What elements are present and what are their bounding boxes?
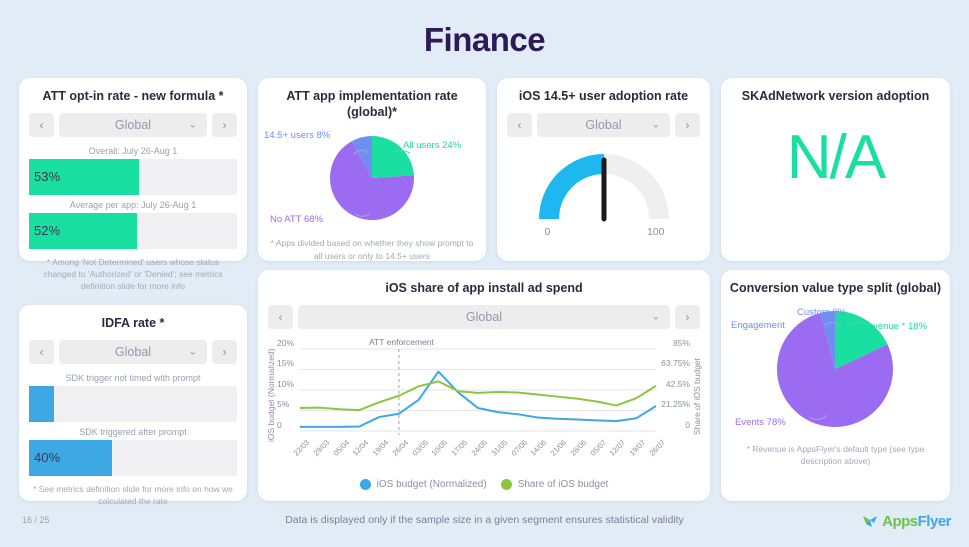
pie-label-no-att: No ATT 68% xyxy=(270,214,323,225)
bar-track-sdk-not-timed xyxy=(29,386,237,422)
prev-segment-button[interactable]: ‹ xyxy=(29,340,54,364)
pie-label-custom: Custom 0% xyxy=(797,307,846,318)
legend-label: Share of iOS budget xyxy=(518,479,609,490)
logo-text-apps: Apps xyxy=(882,513,918,530)
legend-dot-icon xyxy=(501,479,512,490)
segment-selector-idfa[interactable]: ‹ Global ⌄ › xyxy=(19,334,247,368)
gauge-axis-labels: 0 100 xyxy=(539,226,669,238)
legend-item-share-ios: Share of iOS budget xyxy=(501,479,609,490)
footer-note: Data is displayed only if the sample siz… xyxy=(0,514,969,526)
bar-label-overall: Overall: July 26-Aug 1 xyxy=(19,146,247,156)
card-conversion-value: Conversion value type split (global) Cus… xyxy=(721,270,950,501)
gauge-svg xyxy=(539,151,669,223)
pie-label-revenue: Revenue * 18% xyxy=(861,321,927,332)
bar-label-sdk-after: SDK triggered after prompt xyxy=(19,427,247,437)
chevron-down-icon: ⌄ xyxy=(652,119,660,130)
segment-selector-ios-share[interactable]: ‹ Global ⌄ › xyxy=(258,299,710,333)
skadnetwork-value: N/A xyxy=(721,107,950,189)
bar-fill-sdk-after: 40% xyxy=(29,440,112,476)
prev-segment-button[interactable]: ‹ xyxy=(29,113,54,137)
segment-value: Global xyxy=(115,118,151,132)
chart-gridlines xyxy=(300,349,656,431)
slide-root: Finance ATT opt-in rate - new formula * … xyxy=(0,0,969,547)
card-idfa-rate: IDFA rate * ‹ Global ⌄ › SDK trigger not… xyxy=(19,305,247,501)
appsflyer-logo: Apps Flyer xyxy=(860,511,951,531)
segment-selector-ios-adoption[interactable]: ‹ Global ⌄ › xyxy=(497,107,710,141)
bar-label-avg: Average per app: July 26-Aug 1 xyxy=(19,200,247,210)
bar-track-avg: 52% xyxy=(29,213,237,249)
pie-label-engagement: Engagement xyxy=(731,320,785,331)
segment-value: Global xyxy=(585,118,621,132)
next-segment-button[interactable]: › xyxy=(212,340,237,364)
bar-label-sdk-not-timed: SDK trigger not timed with prompt xyxy=(19,373,247,383)
pie-chart-att-implementation: 14.5+ users 8% All users 24% No ATT 68% xyxy=(258,122,486,230)
legend-label: iOS budget (Normalized) xyxy=(377,479,487,490)
appsflyer-mark-icon xyxy=(860,511,880,531)
chevron-down-icon: ⌄ xyxy=(652,311,660,322)
card-att-optin-rate: ATT opt-in rate - new formula * ‹ Global… xyxy=(19,78,247,261)
logo-text-flyer: Flyer xyxy=(918,513,951,530)
segment-dropdown[interactable]: Global ⌄ xyxy=(59,340,207,364)
card-title-att-optin: ATT opt-in rate - new formula * xyxy=(19,78,247,107)
legend-dot-icon xyxy=(360,479,371,490)
chevron-down-icon: ⌄ xyxy=(189,119,197,130)
gauge-min-label: 0 xyxy=(539,226,551,238)
segment-value: Global xyxy=(115,345,151,359)
bar-track-overall: 53% xyxy=(29,159,237,195)
segment-value: Global xyxy=(466,310,502,324)
segment-dropdown[interactable]: Global ⌄ xyxy=(59,113,207,137)
bar-fill-sdk-not-timed xyxy=(29,386,54,422)
card-att-implementation: ATT app implementation rate (global)* 14… xyxy=(258,78,486,261)
pie-label-all-users: All users 24% xyxy=(403,140,461,151)
next-segment-button[interactable]: › xyxy=(675,305,700,329)
card-ios-share: iOS share of app install ad spend ‹ Glob… xyxy=(258,270,710,501)
slide-footer: 16 / 25 Data is displayed only if the sa… xyxy=(0,503,969,547)
footnote-att-implementation: * Apps divided based on whether they sho… xyxy=(258,230,486,271)
card-title-idfa: IDFA rate * xyxy=(19,305,247,334)
segment-selector-att-optin[interactable]: ‹ Global ⌄ › xyxy=(19,107,247,141)
series-line-ios-budget xyxy=(300,371,656,426)
pie-chart-conversion-value: Custom 0% Engagement Revenue * 18% Event… xyxy=(721,299,950,436)
chevron-down-icon: ⌄ xyxy=(189,346,197,357)
next-segment-button[interactable]: › xyxy=(212,113,237,137)
bar-value-avg: 52% xyxy=(29,223,60,238)
chart-legend: iOS budget (Normalized) Share of iOS bud… xyxy=(258,479,710,490)
prev-segment-button[interactable]: ‹ xyxy=(268,305,293,329)
bar-value-overall: 53% xyxy=(29,169,60,184)
legend-item-ios-budget: iOS budget (Normalized) xyxy=(360,479,487,490)
line-chart-ios-share: iOS budget (Normalized) Share of iOS bud… xyxy=(266,337,702,477)
gauge-max-label: 100 xyxy=(647,226,669,238)
card-title-ios-share: iOS share of app install ad spend xyxy=(258,270,710,299)
footnote-att-optin: * Among 'Not Determined' users whose sta… xyxy=(19,249,247,302)
segment-dropdown[interactable]: Global ⌄ xyxy=(537,113,670,137)
bar-fill-overall: 53% xyxy=(29,159,139,195)
card-title-ios-adoption: iOS 14.5+ user adoption rate xyxy=(497,78,710,107)
pie-label-145-users: 14.5+ users 8% xyxy=(264,130,330,141)
pie-label-events: Events 78% xyxy=(735,417,786,428)
next-segment-button[interactable]: › xyxy=(675,113,700,137)
line-chart-svg xyxy=(266,337,702,465)
card-ios-adoption: iOS 14.5+ user adoption rate ‹ Global ⌄ … xyxy=(497,78,710,261)
gauge-chart-ios-adoption: 0 100 xyxy=(539,151,669,229)
card-title-conversion-value: Conversion value type split (global) xyxy=(721,270,950,299)
card-skadnetwork: SKAdNetwork version adoption N/A xyxy=(721,78,950,261)
bar-track-sdk-after: 40% xyxy=(29,440,237,476)
bar-value-sdk-after: 40% xyxy=(29,450,60,465)
prev-segment-button[interactable]: ‹ xyxy=(507,113,532,137)
segment-dropdown[interactable]: Global ⌄ xyxy=(298,305,670,329)
series-line-share-ios xyxy=(300,381,656,410)
bar-fill-avg: 52% xyxy=(29,213,137,249)
footnote-conversion-value: * Revenue is AppsFlyer's default type (s… xyxy=(721,436,950,477)
card-title-skadnetwork: SKAdNetwork version adoption xyxy=(721,78,950,107)
page-title: Finance xyxy=(0,0,969,62)
card-title-att-implementation: ATT app implementation rate (global)* xyxy=(258,78,486,122)
